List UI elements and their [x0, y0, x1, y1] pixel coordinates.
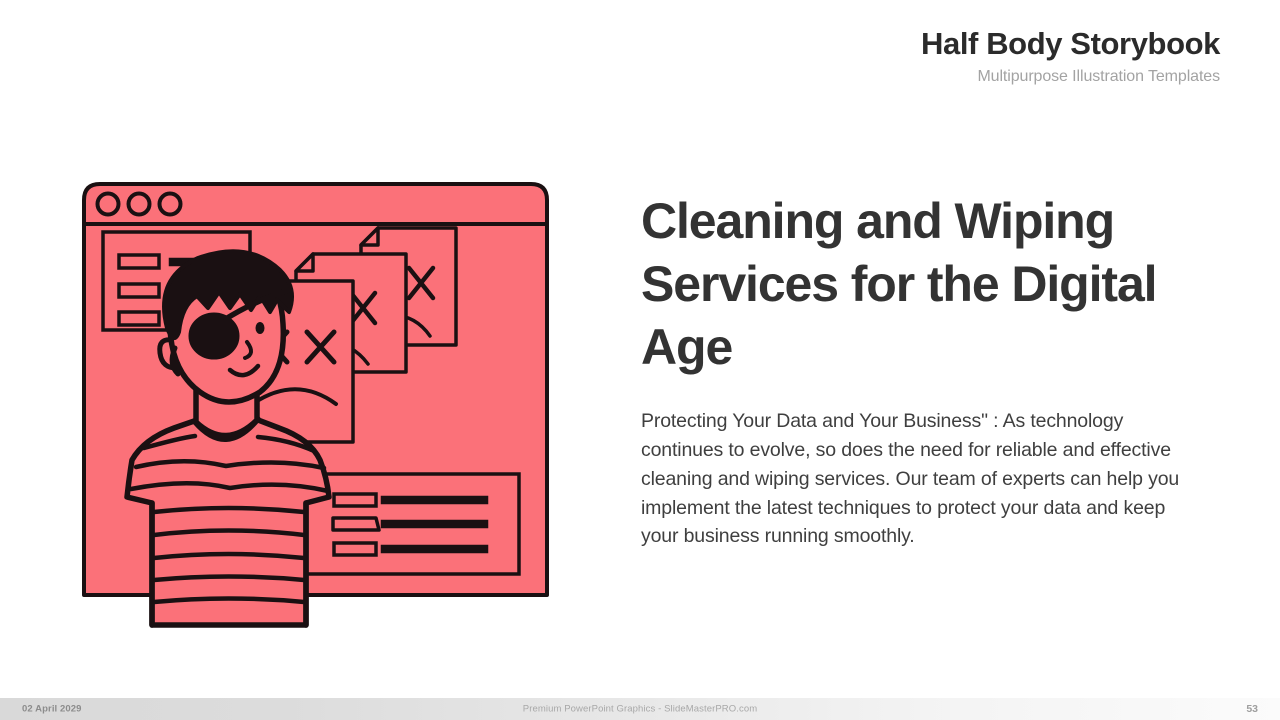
slide-root: Half Body Storybook Multipurpose Illustr…: [0, 0, 1280, 720]
brand-title: Half Body Storybook: [921, 26, 1220, 62]
content-column: Cleaning and Wiping Services for the Dig…: [641, 190, 1211, 551]
footer-bar: 02 April 2029 Premium PowerPoint Graphic…: [0, 698, 1280, 720]
illustration: [48, 160, 588, 650]
footer-page-number: 53: [1246, 703, 1258, 715]
character-shirt: [127, 418, 329, 625]
character-eye: [256, 322, 265, 334]
brand-subtitle: Multipurpose Illustration Templates: [921, 68, 1220, 86]
page-title: Cleaning and Wiping Services for the Dig…: [641, 190, 1201, 379]
brand-block: Half Body Storybook Multipurpose Illustr…: [921, 26, 1220, 86]
body-paragraph: Protecting Your Data and Your Business" …: [641, 407, 1207, 551]
footer-credit: Premium PowerPoint Graphics - SlideMaste…: [523, 704, 757, 715]
footer-date: 02 April 2029: [22, 704, 82, 715]
